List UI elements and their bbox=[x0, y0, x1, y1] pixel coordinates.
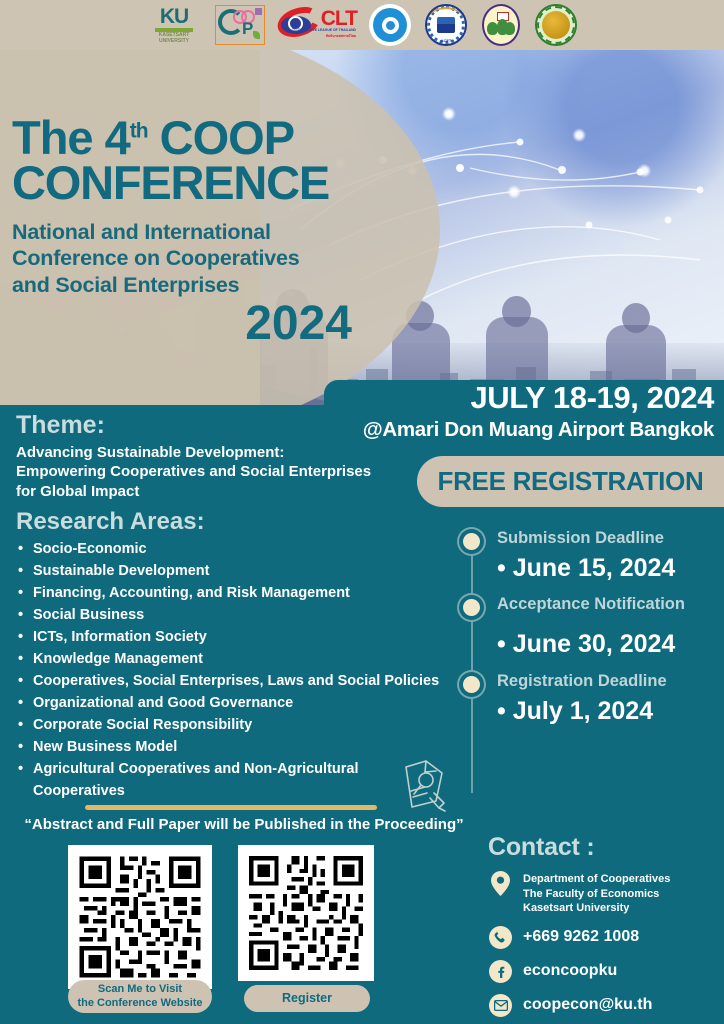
ku-logo-mark: KU bbox=[160, 6, 188, 27]
ku-kasetsart-university-logo: KU KASETSARTUNIVERSITY bbox=[145, 3, 203, 47]
deadlines-timeline: Submission Deadline • June 15, 2024 Acce… bbox=[455, 525, 724, 726]
cooperative-gold-emblem-logo bbox=[533, 3, 579, 47]
bullet-icon: • bbox=[18, 604, 33, 626]
bullet-icon: • bbox=[18, 648, 33, 670]
page-title-line1: The 4th COOP bbox=[12, 115, 432, 160]
research-area-label: ICTs, Information Society bbox=[33, 626, 468, 648]
research-area-label: Social Business bbox=[33, 604, 468, 626]
contact-phone: +669 9262 1008 bbox=[523, 925, 639, 948]
page-subtitle: National and International Conference on… bbox=[12, 219, 432, 298]
clt-subtitle-en: CO-OPERATIVE LEAGUE OF THAILAND bbox=[291, 28, 356, 32]
free-registration-badge[interactable]: FREE REGISTRATION bbox=[417, 456, 724, 507]
acft-logo: ACFT bbox=[423, 3, 469, 47]
contact-email: coopecon@ku.th bbox=[523, 993, 652, 1016]
gold-logo-ring bbox=[537, 6, 575, 44]
acft-logo-circle: ACFT bbox=[425, 4, 467, 46]
page-title-line2: CONFERENCE bbox=[12, 160, 432, 206]
list-item: •Corporate Social Responsibility bbox=[18, 714, 468, 736]
timeline-item: Submission Deadline • June 15, 2024 bbox=[455, 525, 724, 583]
cad-logo-circle bbox=[369, 4, 411, 46]
contact-email-row[interactable]: coopecon@ku.th bbox=[488, 993, 724, 1018]
facebook-icon bbox=[488, 959, 513, 984]
timeline-date: • June 30, 2024 bbox=[497, 631, 724, 659]
cpd-p-letter: P bbox=[242, 20, 253, 37]
sponsor-logo-bar: KU KASETSARTUNIVERSITY P COOPERATIVE DEP… bbox=[0, 0, 724, 50]
cpd-logo-frame: P bbox=[215, 5, 265, 45]
clt-logo: CLT CO-OPERATIVE LEAGUE OF THAILAND สันน… bbox=[277, 3, 357, 47]
timeline-label: Acceptance Notification bbox=[497, 591, 724, 613]
email-icon bbox=[488, 993, 513, 1018]
cad-logo-inner bbox=[373, 8, 407, 42]
register-qr-image bbox=[245, 852, 367, 974]
timeline-dot-icon bbox=[457, 670, 486, 699]
timeline-dot-icon bbox=[457, 527, 486, 556]
timeline-label: Submission Deadline bbox=[497, 525, 724, 547]
register-qr-caption[interactable]: Register bbox=[244, 985, 370, 1012]
timeline-dot-icon bbox=[457, 593, 486, 622]
bullet-icon: • bbox=[18, 582, 33, 604]
contact-facebook-row[interactable]: econcoopku bbox=[488, 959, 724, 984]
paper-review-icon bbox=[392, 757, 454, 815]
qr-caption-text: Scan Me to Visit the Conference Website bbox=[77, 983, 202, 1010]
date-bullet-icon: • bbox=[497, 697, 506, 725]
timeline-date-value: July 1, 2024 bbox=[513, 697, 653, 725]
timeline-date: • July 1, 2024 bbox=[497, 698, 724, 726]
ku-logo-subtitle: KASETSARTUNIVERSITY bbox=[159, 33, 190, 44]
conference-website-qr[interactable] bbox=[68, 845, 212, 989]
cpd-cooperative-promotion-department-logo: P COOPERATIVE DEPARTMENT bbox=[213, 3, 267, 47]
bullet-icon: • bbox=[18, 538, 33, 560]
list-item: •ICTs, Information Society bbox=[18, 626, 468, 648]
list-item: •Agricultural Cooperatives and Non-Agric… bbox=[18, 758, 418, 802]
cooperative-auditing-department-logo bbox=[367, 3, 413, 47]
location-pin-icon bbox=[488, 871, 513, 896]
research-area-label: New Business Model bbox=[33, 736, 468, 758]
title-block: The 4th COOP CONFERENCE National and Int… bbox=[12, 115, 432, 348]
timeline-item: Acceptance Notification • June 30, 2024 bbox=[455, 591, 724, 659]
timeline-item: Registration Deadline • July 1, 2024 bbox=[455, 668, 724, 726]
list-item: •Socio-Economic bbox=[18, 538, 468, 560]
timeline-date: • June 15, 2024 bbox=[497, 555, 724, 583]
cpd-square-accent bbox=[255, 8, 262, 15]
timeline-date-value: June 15, 2024 bbox=[513, 554, 676, 582]
bullet-icon: • bbox=[18, 626, 33, 648]
timeline-date-value: June 30, 2024 bbox=[513, 630, 676, 658]
contact-phone-row[interactable]: +669 9262 1008 bbox=[488, 925, 724, 950]
bullet-icon: • bbox=[18, 736, 33, 758]
bullet-icon: • bbox=[18, 692, 33, 714]
research-area-label: Organizational and Good Governance bbox=[33, 692, 468, 714]
date-bullet-icon: • bbox=[497, 630, 506, 658]
research-area-label: Socio-Economic bbox=[33, 538, 468, 560]
list-item: •Financing, Accounting, and Risk Managem… bbox=[18, 582, 468, 604]
clt-subtitle-th: สันนิบาตสหกรณ์ไทย bbox=[326, 34, 356, 39]
event-date-block: JULY 18-19, 2024 @Amari Don Muang Airpor… bbox=[324, 380, 724, 442]
list-item: •Cooperatives, Social Enterprises, Laws … bbox=[18, 670, 468, 692]
research-area-label: Sustainable Development bbox=[33, 560, 468, 582]
gold-logo-circle bbox=[535, 4, 577, 46]
list-item: •Organizational and Good Governance bbox=[18, 692, 468, 714]
date-bullet-icon: • bbox=[497, 554, 506, 582]
research-area-label: Cooperatives, Social Enterprises, Laws a… bbox=[33, 670, 468, 692]
timeline-label: Registration Deadline bbox=[497, 668, 724, 690]
conference-website-qr-caption[interactable]: Scan Me to Visit the Conference Website bbox=[68, 980, 212, 1013]
free-registration-label: FREE REGISTRATION bbox=[438, 466, 704, 497]
list-item: •New Business Model bbox=[18, 736, 468, 758]
event-venue: @Amari Don Muang Airport Bangkok bbox=[324, 417, 714, 443]
bullet-icon: • bbox=[18, 714, 33, 736]
cad-logo-ring bbox=[382, 17, 399, 34]
title-ordinal-suffix: th bbox=[130, 119, 148, 142]
conference-poster: KU KASETSARTUNIVERSITY P COOPERATIVE DEP… bbox=[0, 0, 724, 1024]
bank-for-agriculture-logo bbox=[479, 3, 523, 47]
baac-logo-shield bbox=[482, 4, 520, 46]
event-dates: JULY 18-19, 2024 bbox=[324, 380, 714, 417]
qr-code-section: Scan Me to Visit the Conference Website … bbox=[0, 842, 470, 1024]
gold-divider bbox=[85, 805, 377, 810]
bullet-icon: • bbox=[18, 560, 33, 582]
research-areas-heading: Research Areas: bbox=[16, 508, 205, 536]
proceeding-note: “Abstract and Full Paper will be Publish… bbox=[0, 816, 488, 833]
list-item: •Sustainable Development bbox=[18, 560, 468, 582]
research-area-label: Financing, Accounting, and Risk Manageme… bbox=[33, 582, 468, 604]
qr-caption-text: Register bbox=[282, 991, 332, 1006]
research-area-label: Agricultural Cooperatives and Non-Agricu… bbox=[33, 758, 418, 802]
contact-facebook: econcoopku bbox=[523, 959, 617, 982]
person-head bbox=[622, 303, 650, 333]
cpd-leaf-accent bbox=[253, 31, 260, 39]
register-qr[interactable] bbox=[238, 845, 374, 981]
contact-address: Department of Cooperatives The Faculty o… bbox=[523, 871, 670, 916]
bullet-icon: • bbox=[18, 670, 33, 692]
theme-body: Advancing Sustainable Development: Empow… bbox=[16, 443, 436, 503]
acft-label: ACFT bbox=[441, 38, 452, 43]
list-item: •Knowledge Management bbox=[18, 648, 468, 670]
person-head bbox=[502, 296, 531, 327]
list-item: •Social Business bbox=[18, 604, 468, 626]
research-area-label: Corporate Social Responsibility bbox=[33, 714, 468, 736]
contact-section: Contact : Department of Cooperatives The… bbox=[488, 833, 724, 1018]
page-subtitle-text: National and International Conference on… bbox=[12, 220, 300, 296]
conference-year: 2024 bbox=[12, 300, 432, 348]
contact-heading: Contact : bbox=[488, 833, 724, 862]
phone-icon bbox=[488, 925, 513, 950]
contact-address-row: Department of Cooperatives The Faculty o… bbox=[488, 871, 724, 916]
research-area-label: Knowledge Management bbox=[33, 648, 468, 670]
conference-website-qr-image bbox=[75, 852, 205, 982]
bullet-icon: • bbox=[18, 758, 33, 780]
baac-tree-3 bbox=[504, 22, 515, 35]
